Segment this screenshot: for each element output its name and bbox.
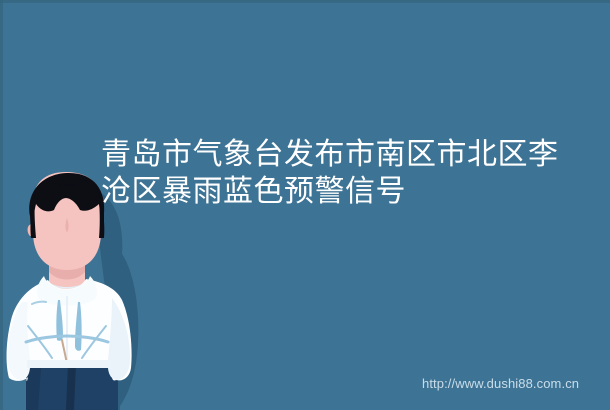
page-title: 青岛市气象台发布市南区市北区李沧区暴雨蓝色预警信号 [101,136,571,210]
top-edge-shade [0,0,610,3]
watermark-url: http://www.dushi88.com.cn [422,376,579,391]
image-canvas: 青岛市气象台发布市南区市北区李沧区暴雨蓝色预警信号 http://www.dus… [0,0,610,410]
hoodie-hem [27,360,110,368]
